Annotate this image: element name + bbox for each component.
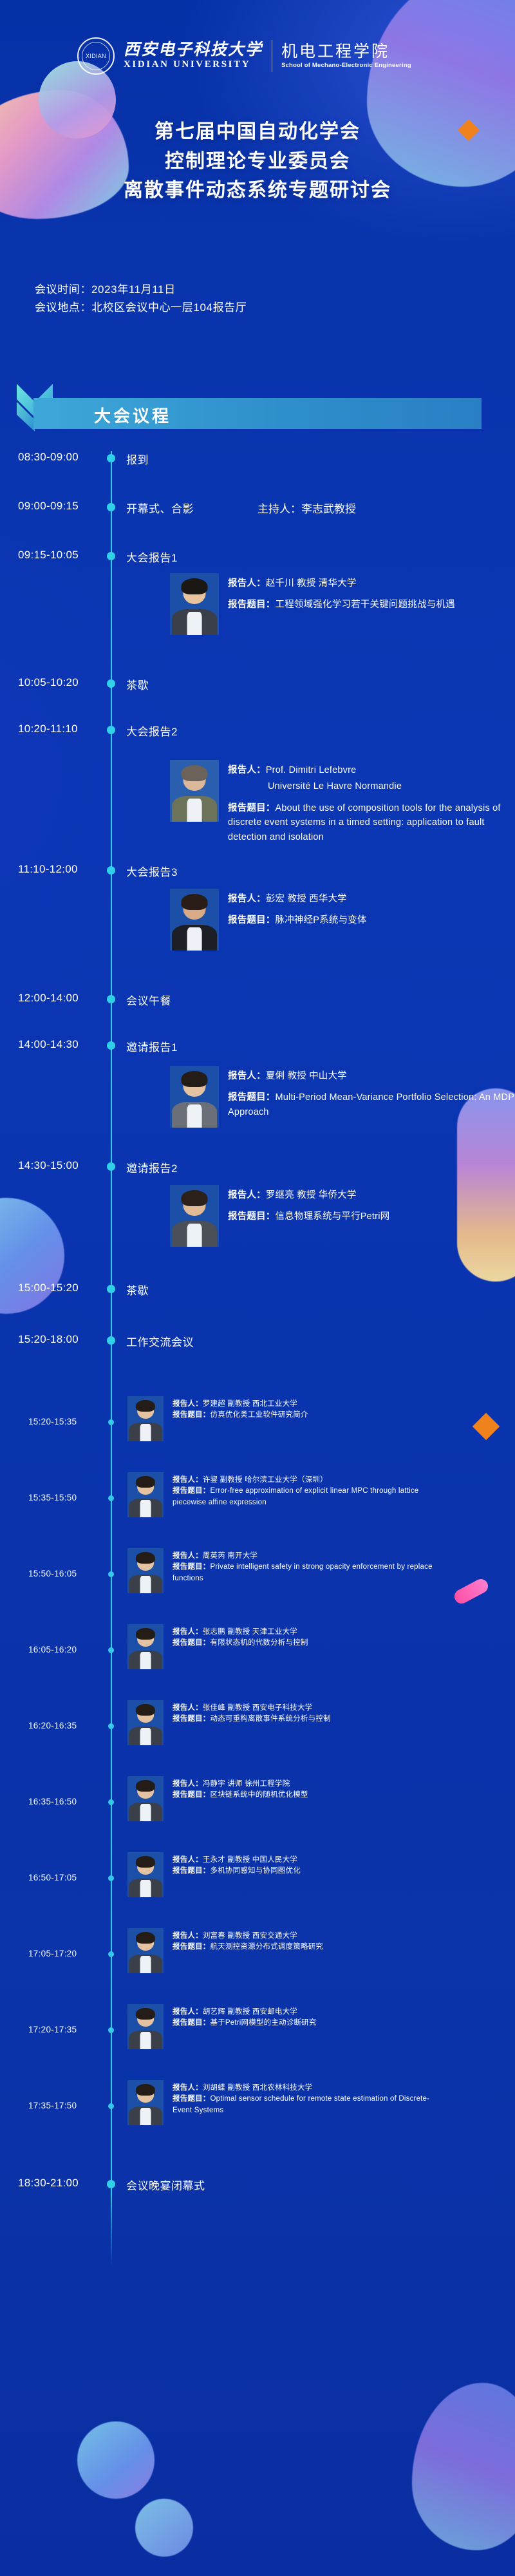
timeline-dot	[107, 679, 115, 688]
page-title: 第七届中国自动化学会 控制理论专业委员会 离散事件动态系统专题研讨会	[0, 117, 515, 205]
schedule-label: 茶歇	[126, 676, 149, 692]
schedule-time: 14:30-15:00	[18, 1159, 79, 1172]
speaker-photo	[127, 1472, 164, 1517]
workshop-speaker-name: 报告人：罗建超 副教授 西北工业大学	[173, 1399, 308, 1410]
workshop-speaker-card: 报告人：冯静宇 讲师 徐州工程学院报告题目：区块链系统中的随机优化模型	[127, 1776, 308, 1821]
workshop-speaker-info: 报告人：许鋆 副教授 哈尔滨工业大学（深圳）报告题目：Error-free ap…	[173, 1472, 443, 1508]
workshop-speaker-info: 报告人：张佳峰 副教授 西安电子科技大学报告题目：动态可重构离散事件系统分析与控…	[173, 1700, 331, 1725]
workshop-speaker-topic: 报告题目：仿真优化类工业软件研究简介	[173, 1410, 308, 1421]
workshop-speaker-card: 报告人：罗建超 副教授 西北工业大学报告题目：仿真优化类工业软件研究简介	[127, 1396, 308, 1441]
speaker-photo	[170, 1066, 219, 1128]
timeline-dot	[107, 866, 115, 875]
speaker-photo	[170, 573, 219, 635]
workshop-speaker-topic: 报告题目：动态可重构离散事件系统分析与控制	[173, 1714, 331, 1725]
decorative-blob-bottom-left	[77, 2421, 154, 2499]
university-name-en: XIDIAN UNIVERSITY	[124, 59, 263, 70]
workshop-speaker-name: 报告人：张志鹏 副教授 天津工业大学	[173, 1627, 308, 1638]
brand-divider	[272, 40, 272, 72]
workshop-speaker-card: 报告人：刘富春 副教授 西安交通大学报告题目：航天测控资源分布式调度策略研究	[127, 1928, 323, 1973]
speaker-card: 报告人：Prof. Dimitri LefebvreUniversité Le …	[170, 760, 515, 844]
timeline-dot-small	[108, 2103, 114, 2109]
workshop-time: 16:50-17:05	[28, 1873, 77, 1882]
title-line-1: 第七届中国自动化学会	[0, 117, 515, 147]
speaker-topic: 报告题目：Multi-Period Mean-Variance Portfoli…	[228, 1090, 515, 1119]
schedule-time: 09:15-10:05	[18, 549, 79, 562]
spacer	[228, 795, 515, 801]
timeline-dot-small	[108, 1647, 114, 1653]
timeline-dot-small	[108, 1951, 114, 1957]
speaker-card: 报告人：赵千川 教授 清华大学报告题目：工程领域强化学习若干关键问题挑战与机遇	[170, 573, 455, 635]
workshop-time: 16:35-16:50	[28, 1797, 77, 1806]
session-host: 主持人：李志武教授	[257, 500, 356, 516]
conference-time: 会议时间：2023年11月11日	[35, 281, 247, 299]
workshop-speaker-name: 报告人：周英芮 南开大学	[173, 1551, 443, 1562]
speaker-photo	[127, 2004, 164, 2049]
workshop-speaker-topic: 报告题目：Error-free approximation of explici…	[173, 1486, 443, 1508]
schedule-label: 大会报告3	[126, 863, 178, 879]
speaker-info: 报告人：罗继亮 教授 华侨大学报告题目：信息物理系统与平行Petri网	[228, 1185, 389, 1224]
speaker-photo	[127, 2080, 164, 2125]
workshop-speaker-topic: 报告题目：多机协同感知与协同图优化	[173, 1866, 301, 1877]
schedule-time: 15:20-18:00	[18, 1333, 79, 1346]
workshop-time: 16:20-16:35	[28, 1721, 77, 1730]
agenda-band-label: 大会议程	[94, 403, 171, 427]
workshop-speaker-topic: 报告题目：区块链系统中的随机优化模型	[173, 1790, 308, 1801]
workshop-speaker-info: 报告人：周英芮 南开大学报告题目：Private intelligent saf…	[173, 1548, 443, 1584]
speaker-photo	[170, 889, 219, 951]
workshop-speaker-name: 报告人：胡艺辉 副教授 西安邮电大学	[173, 2007, 317, 2018]
schedule-time: 08:30-09:00	[18, 451, 79, 464]
schedule-label: 会议晚宴闭幕式	[126, 2177, 205, 2193]
conference-meta: 会议时间：2023年11月11日 会议地点：北校区会议中心一层104报告厅	[35, 281, 247, 316]
decorative-blob-mid-left	[0, 1198, 64, 1314]
workshop-speaker-info: 报告人：张志鹏 副教授 天津工业大学报告题目：有限状态机的代数分析与控制	[173, 1624, 308, 1649]
workshop-speaker-card: 报告人：许鋆 副教授 哈尔滨工业大学（深圳）报告题目：Error-free ap…	[127, 1472, 443, 1517]
workshop-speaker-card: 报告人：周英芮 南开大学报告题目：Private intelligent saf…	[127, 1548, 443, 1593]
workshop-speaker-name: 报告人：许鋆 副教授 哈尔滨工业大学（深圳）	[173, 1475, 443, 1486]
schedule-label: 大会报告2	[126, 723, 178, 739]
workshop-speaker-name: 报告人：刘胡蝶 副教授 西北农林科技大学	[173, 2083, 443, 2094]
timeline-dot	[107, 726, 115, 734]
speaker-topic: 报告题目：工程领域强化学习若干关键问题挑战与机遇	[228, 598, 455, 612]
speaker-topic: 报告题目：信息物理系统与平行Petri网	[228, 1209, 389, 1224]
workshop-speaker-topic: 报告题目：航天测控资源分布式调度策略研究	[173, 1942, 323, 1953]
timeline-dot	[107, 454, 115, 462]
speaker-name: 报告人：夏俐 教授 中山大学	[228, 1068, 515, 1084]
xidian-crest-icon: XIDIAN	[77, 37, 115, 75]
schedule-time: 12:00-14:00	[18, 992, 79, 1005]
spacer	[228, 1204, 389, 1209]
schedule-time: 11:10-12:00	[18, 863, 78, 876]
spacer	[228, 1084, 515, 1090]
schedule-time: 09:00-09:15	[18, 500, 79, 513]
workshop-speaker-info: 报告人：王永才 副教授 中国人民大学报告题目：多机协同感知与协同图优化	[173, 1852, 301, 1877]
speaker-photo	[127, 1548, 164, 1593]
decorative-blob-bottom-right	[412, 2383, 515, 2550]
timeline-dot-small	[108, 2027, 114, 2033]
workshop-speaker-topic: 报告题目：有限状态机的代数分析与控制	[173, 1638, 308, 1649]
timeline-dot-small	[108, 1875, 114, 1881]
workshop-time: 15:35-15:50	[28, 1493, 77, 1502]
university-name-block: 西安电子科技大学 XIDIAN UNIVERSITY	[124, 42, 263, 70]
school-name-cn: 机电工程学院	[281, 43, 411, 60]
speaker-photo	[170, 1185, 219, 1247]
schedule-label: 茶歇	[126, 1282, 149, 1298]
workshop-speaker-name: 报告人：刘富春 副教授 西安交通大学	[173, 1931, 323, 1942]
speaker-info: 报告人：夏俐 教授 中山大学报告题目：Multi-Period Mean-Var…	[228, 1066, 515, 1119]
title-line-3: 离散事件动态系统专题研讨会	[0, 176, 515, 205]
schedule-time: 10:20-11:10	[18, 723, 78, 735]
timeline-dot	[107, 995, 115, 1003]
speaker-photo	[127, 1852, 164, 1897]
workshop-time: 17:20-17:35	[28, 2025, 77, 2034]
schedule-label: 会议午餐	[126, 992, 171, 1008]
workshop-speaker-topic: 报告题目：Private intelligent safety in stron…	[173, 1562, 443, 1584]
workshop-speaker-topic: 报告题目：基于Petri网模型的主动诊断研究	[173, 2018, 317, 2029]
speaker-name: 报告人：彭宏 教授 西华大学	[228, 891, 367, 907]
workshop-time: 17:05-17:20	[28, 1949, 77, 1958]
schedule-label: 工作交流会议	[126, 1333, 194, 1349]
schedule-label: 大会报告1	[126, 549, 178, 565]
schedule-label: 开幕式、合影	[126, 500, 194, 516]
timeline-axis	[111, 451, 112, 2267]
university-name-cn: 西安电子科技大学	[124, 42, 263, 58]
timeline-dot	[107, 1285, 115, 1293]
decorative-diamond-mid	[473, 1413, 500, 1440]
workshop-speaker-card: 报告人：张志鹏 副教授 天津工业大学报告题目：有限状态机的代数分析与控制	[127, 1624, 308, 1669]
speaker-name: 报告人：赵千川 教授 清华大学	[228, 576, 455, 592]
speaker-name: 报告人：罗继亮 教授 华侨大学	[228, 1188, 389, 1204]
workshop-speaker-name: 报告人：冯静宇 讲师 徐州工程学院	[173, 1779, 308, 1790]
workshop-speaker-info: 报告人：胡艺辉 副教授 西安邮电大学报告题目：基于Petri网模型的主动诊断研究	[173, 2004, 317, 2029]
speaker-affiliation: Université Le Havre Normandie	[228, 779, 515, 795]
timeline-dot-small	[108, 1571, 114, 1577]
workshop-time: 16:05-16:20	[28, 1645, 77, 1654]
workshop-speaker-name: 报告人：王永才 副教授 中国人民大学	[173, 1855, 301, 1866]
speaker-photo	[127, 1700, 164, 1745]
timeline-dot	[107, 552, 115, 560]
conference-place: 会议地点：北校区会议中心一层104报告厅	[35, 299, 247, 317]
workshop-speaker-topic: 报告题目：Optimal sensor schedule for remote …	[173, 2094, 443, 2116]
schedule-label: 报到	[126, 451, 149, 467]
speaker-photo	[170, 760, 219, 822]
workshop-time: 15:50-16:05	[28, 1569, 77, 1578]
speaker-photo	[127, 1396, 164, 1441]
speaker-topic: 报告题目：About the use of composition tools …	[228, 801, 515, 844]
schedule-label: 邀请报告2	[126, 1159, 178, 1175]
workshop-speaker-card: 报告人：胡艺辉 副教授 西安邮电大学报告题目：基于Petri网模型的主动诊断研究	[127, 2004, 317, 2049]
speaker-photo	[127, 1624, 164, 1669]
decorative-blob-bottom-left-small	[135, 2499, 193, 2557]
brand-header: XIDIAN 西安电子科技大学 XIDIAN UNIVERSITY 机电工程学院…	[77, 37, 411, 75]
timeline-dot-small	[108, 1495, 114, 1501]
speaker-card: 报告人：夏俐 教授 中山大学报告题目：Multi-Period Mean-Var…	[170, 1066, 515, 1128]
workshop-speaker-card: 报告人：刘胡蝶 副教授 西北农林科技大学报告题目：Optimal sensor …	[127, 2080, 443, 2125]
school-name-block: 机电工程学院 School of Mechano-Electronic Engi…	[281, 43, 411, 70]
schedule-label: 邀请报告1	[126, 1038, 178, 1054]
spacer	[228, 592, 455, 598]
workshop-speaker-name: 报告人：张佳峰 副教授 西安电子科技大学	[173, 1703, 331, 1714]
timeline-dot	[107, 2180, 115, 2188]
workshop-time: 15:20-15:35	[28, 1417, 77, 1426]
schedule-time: 14:00-14:30	[18, 1038, 79, 1051]
timeline-dot	[107, 1336, 115, 1345]
schedule-time: 15:00-15:20	[18, 1282, 79, 1294]
spacer	[228, 907, 367, 913]
speaker-topic: 报告题目：脉冲神经P系统与变体	[228, 913, 367, 927]
speaker-card: 报告人：彭宏 教授 西华大学报告题目：脉冲神经P系统与变体	[170, 889, 367, 951]
schedule-time: 10:05-10:20	[18, 676, 79, 689]
speaker-info: 报告人：Prof. Dimitri LefebvreUniversité Le …	[228, 760, 515, 844]
timeline-dot	[107, 503, 115, 511]
workshop-time: 17:35-17:50	[28, 2101, 77, 2110]
workshop-speaker-info: 报告人：刘胡蝶 副教授 西北农林科技大学报告题目：Optimal sensor …	[173, 2080, 443, 2116]
speaker-photo	[127, 1928, 164, 1973]
speaker-name: 报告人：Prof. Dimitri Lefebvre	[228, 762, 515, 779]
timeline-dot-small	[108, 1419, 114, 1425]
workshop-speaker-info: 报告人：罗建超 副教授 西北工业大学报告题目：仿真优化类工业软件研究简介	[173, 1396, 308, 1421]
schedule-time: 18:30-21:00	[18, 2177, 79, 2190]
timeline-dot	[107, 1041, 115, 1050]
decorative-pink-stroke	[452, 1577, 491, 1606]
workshop-speaker-info: 报告人：刘富春 副教授 西安交通大学报告题目：航天测控资源分布式调度策略研究	[173, 1928, 323, 1953]
workshop-speaker-card: 报告人：张佳峰 副教授 西安电子科技大学报告题目：动态可重构离散事件系统分析与控…	[127, 1700, 331, 1745]
timeline-dot-small	[108, 1723, 114, 1729]
timeline-dot-small	[108, 1799, 114, 1805]
workshop-speaker-info: 报告人：冯静宇 讲师 徐州工程学院报告题目：区块链系统中的随机优化模型	[173, 1776, 308, 1801]
timeline-dot	[107, 1162, 115, 1171]
crest-label: XIDIAN	[86, 53, 106, 59]
speaker-card: 报告人：罗继亮 教授 华侨大学报告题目：信息物理系统与平行Petri网	[170, 1185, 389, 1247]
speaker-info: 报告人：赵千川 教授 清华大学报告题目：工程领域强化学习若干关键问题挑战与机遇	[228, 573, 455, 612]
school-name-en: School of Mechano-Electronic Engineering	[281, 62, 411, 69]
title-line-2: 控制理论专业委员会	[0, 147, 515, 176]
workshop-speaker-card: 报告人：王永才 副教授 中国人民大学报告题目：多机协同感知与协同图优化	[127, 1852, 301, 1897]
speaker-photo	[127, 1776, 164, 1821]
speaker-info: 报告人：彭宏 教授 西华大学报告题目：脉冲神经P系统与变体	[228, 889, 367, 928]
